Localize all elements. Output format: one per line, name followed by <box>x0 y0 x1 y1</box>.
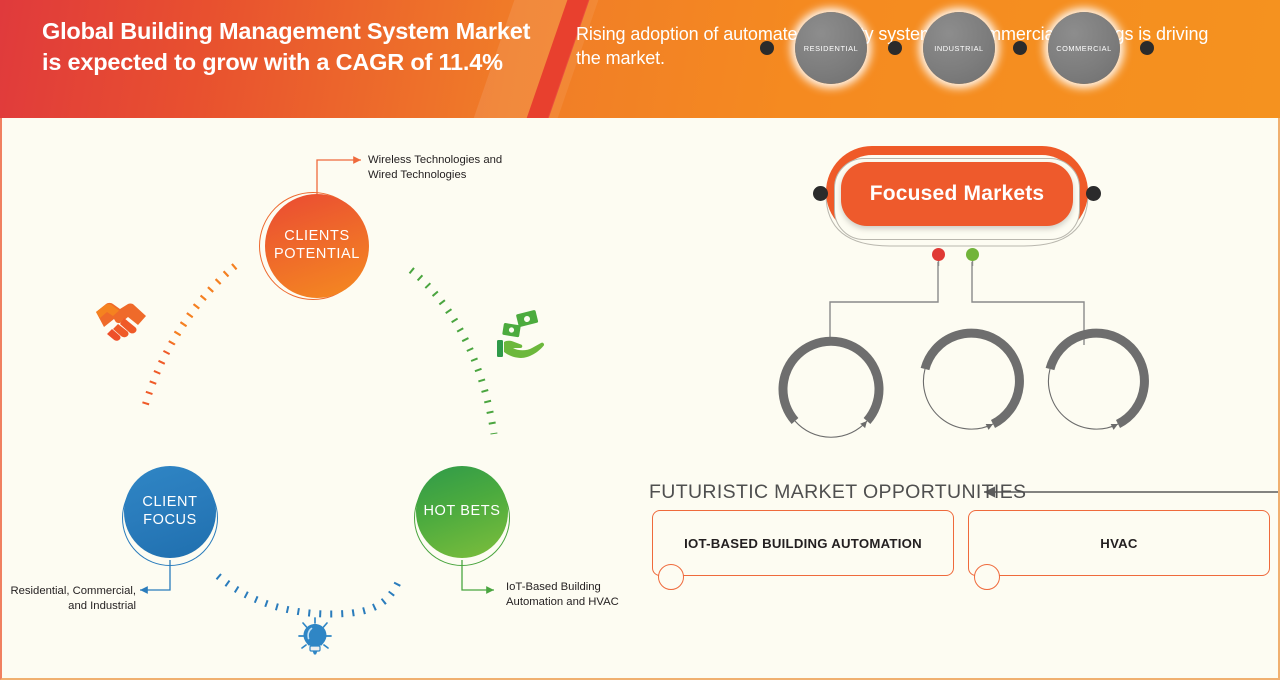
focused-markets-button[interactable]: Focused Markets <box>841 162 1073 226</box>
infographic-canvas: Global Building Management System Market… <box>0 0 1280 680</box>
market-disc-dot-b-icon <box>888 41 902 55</box>
market-disc-industrial-label: INDUSTRIAL <box>923 12 995 84</box>
market-disc-residential-label: RESIDENTIAL <box>795 12 867 84</box>
market-disc-commercial[interactable]: COMMERCIAL <box>1036 0 1132 96</box>
opportunity-card-hvac-marker-icon <box>974 564 1000 590</box>
market-disc-dot-c-icon <box>1013 41 1027 55</box>
green-signal-dot-icon <box>966 248 979 261</box>
opportunity-card-iot-building-automation[interactable]: IOT-BASED BUILDING AUTOMATION <box>652 510 954 576</box>
focused-markets-right-dot-icon <box>1086 186 1101 201</box>
market-disc-industrial[interactable]: INDUSTRIAL <box>911 0 1007 96</box>
note-wireless-technologies: Wireless Technologies and Wired Technolo… <box>368 153 528 183</box>
note-residential-commercial-industrial: Residential, Commercial, and Industrial <box>4 584 136 614</box>
opportunity-card-iot-label: IOT-BASED BUILDING AUTOMATION <box>684 536 922 551</box>
market-disc-commercial-label: COMMERCIAL <box>1048 12 1120 84</box>
focused-markets-panel: Focused Markets <box>812 146 1102 250</box>
opportunities-title: FUTURISTIC MARKET OPPORTUNITIES <box>649 481 1026 504</box>
node-hot-bets[interactable]: HOT BETS <box>416 466 508 558</box>
market-disc-dot-a-icon <box>760 41 774 55</box>
node-client-focus[interactable]: CLIENT FOCUS <box>124 466 216 558</box>
node-clients-potential-label: CLIENTS POTENTIAL <box>265 228 369 263</box>
note-iot-building-automation: IoT-Based Building Automation and HVAC <box>506 580 656 610</box>
node-client-focus-label: CLIENT FOCUS <box>124 494 216 529</box>
opportunity-card-hvac-label: HVAC <box>1100 536 1137 551</box>
opportunity-card-hvac[interactable]: HVAC <box>968 510 1270 576</box>
market-disc-residential[interactable]: RESIDENTIAL <box>783 0 879 96</box>
opportunity-card-iot-marker-icon <box>658 564 684 590</box>
node-clients-potential[interactable]: CLIENTS POTENTIAL <box>265 194 369 298</box>
market-disc-dot-d-icon <box>1140 41 1154 55</box>
focused-markets-left-dot-icon <box>813 186 828 201</box>
red-signal-dot-icon <box>932 248 945 261</box>
focused-markets-label: Focused Markets <box>870 182 1045 206</box>
page-title: Global Building Management System Market… <box>42 16 542 79</box>
node-hot-bets-label: HOT BETS <box>423 503 500 521</box>
